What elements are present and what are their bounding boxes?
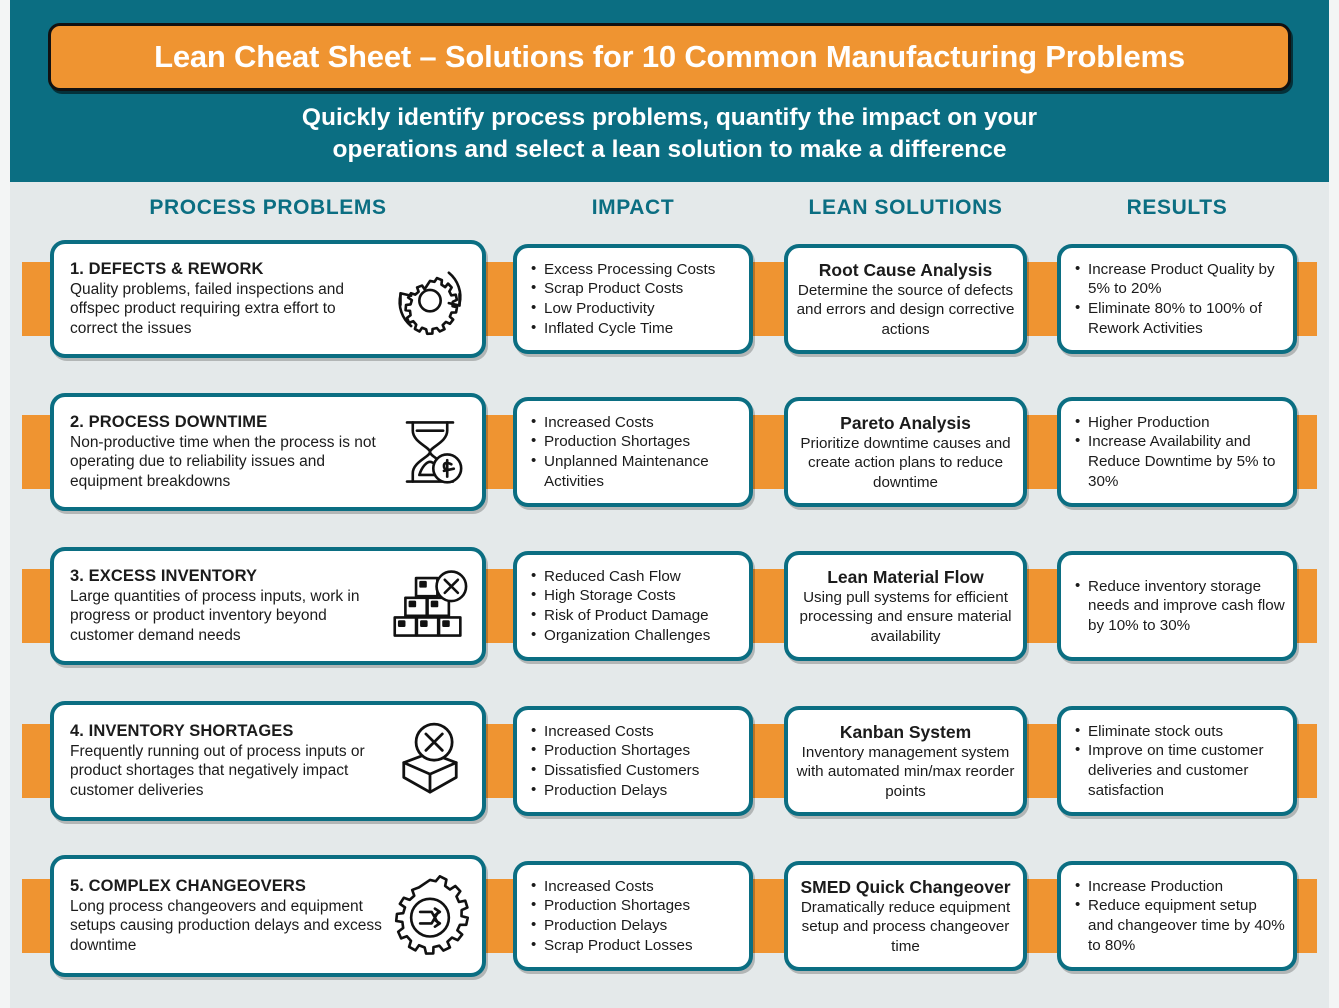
- list-item: Increase Production: [1074, 877, 1285, 897]
- problem-card[interactable]: 5. COMPLEX CHANGEOVERSLong process chang…: [50, 855, 486, 977]
- list-item: Production Delays: [530, 781, 741, 801]
- hourglass-dollar-icon: [386, 408, 474, 496]
- solution-card[interactable]: Pareto AnalysisPrioritize downtime cause…: [784, 397, 1027, 507]
- problem-title: 2. PROCESS DOWNTIME: [70, 413, 386, 432]
- solution-card[interactable]: SMED Quick ChangeoverDramatically reduce…: [784, 861, 1027, 971]
- problem-description: Non-productive time when the process is …: [70, 433, 386, 492]
- title-plate: Lean Cheat Sheet – Solutions for 10 Comm…: [48, 23, 1291, 91]
- solution-title: Lean Material Flow: [795, 566, 1016, 588]
- results-card[interactable]: Reduce inventory storage needs and impro…: [1057, 551, 1297, 661]
- solution-title: Kanban System: [795, 721, 1016, 743]
- results-list: Increase ProductionReduce equipment setu…: [1061, 870, 1293, 962]
- problem-title: 3. EXCESS INVENTORY: [70, 567, 386, 586]
- list-item: Increased Costs: [530, 413, 741, 433]
- list-item: Increase Product Quality by 5% to 20%: [1074, 260, 1285, 299]
- column-headers: PROCESS PROBLEMS IMPACT LEAN SOLUTIONS R…: [10, 196, 1329, 232]
- list-item: Higher Production: [1074, 413, 1285, 433]
- results-list: Eliminate stock outsImprove on time cust…: [1061, 715, 1293, 807]
- list-item: Dissatisfied Customers: [530, 761, 741, 781]
- list-item: Reduce inventory storage needs and impro…: [1074, 577, 1285, 636]
- impact-list: Increased CostsProduction ShortagesProdu…: [517, 870, 749, 962]
- problem-row: 4. INVENTORY SHORTAGESFrequently running…: [10, 701, 1329, 821]
- infographic-page: Lean Cheat Sheet – Solutions for 10 Comm…: [0, 0, 1339, 1008]
- problem-title: 4. INVENTORY SHORTAGES: [70, 722, 386, 741]
- solution-title: SMED Quick Changeover: [795, 876, 1016, 898]
- problem-description: Large quantities of process inputs, work…: [70, 587, 386, 646]
- impact-card[interactable]: Reduced Cash FlowHigh Storage CostsRisk …: [513, 551, 753, 661]
- list-item: High Storage Costs: [530, 586, 741, 606]
- solution-description: Inventory management system with automat…: [795, 743, 1016, 802]
- open-box-x-icon: [386, 717, 474, 805]
- list-item: Production Shortages: [530, 741, 741, 761]
- page-title: Lean Cheat Sheet – Solutions for 10 Comm…: [154, 39, 1185, 75]
- list-item: Low Productivity: [530, 299, 741, 319]
- list-item: Production Shortages: [530, 432, 741, 452]
- impact-list: Increased CostsProduction ShortagesDissa…: [517, 715, 749, 807]
- results-card[interactable]: Eliminate stock outsImprove on time cust…: [1057, 706, 1297, 816]
- list-item: Excess Processing Costs: [530, 260, 741, 280]
- results-card[interactable]: Higher ProductionIncrease Availability a…: [1057, 397, 1297, 507]
- list-item: Reduced Cash Flow: [530, 567, 741, 587]
- page-subtitle: Quickly identify process problems, quant…: [10, 102, 1329, 166]
- list-item: Organization Challenges: [530, 626, 741, 646]
- problem-description: Frequently running out of process inputs…: [70, 742, 386, 801]
- list-item: Increase Availability and Reduce Downtim…: [1074, 432, 1285, 491]
- list-item: Scrap Product Losses: [530, 936, 741, 956]
- problem-title: 1. DEFECTS & REWORK: [70, 260, 386, 279]
- column-header-results: RESULTS: [1057, 196, 1297, 220]
- column-header-impact: IMPACT: [513, 196, 753, 220]
- problem-row: 2. PROCESS DOWNTIMENon-productive time w…: [10, 393, 1329, 511]
- problem-card[interactable]: 4. INVENTORY SHORTAGESFrequently running…: [50, 701, 486, 821]
- problem-description: Long process changeovers and equipment s…: [70, 897, 386, 956]
- impact-card[interactable]: Increased CostsProduction ShortagesUnpla…: [513, 397, 753, 507]
- list-item: Production Delays: [530, 916, 741, 936]
- problem-row: 1. DEFECTS & REWORKQuality problems, fai…: [10, 240, 1329, 358]
- list-item: Eliminate 80% to 100% of Rework Activiti…: [1074, 299, 1285, 338]
- list-item: Reduce equipment setup and changeover ti…: [1074, 896, 1285, 955]
- solution-card[interactable]: Kanban SystemInventory management system…: [784, 706, 1027, 816]
- solution-description: Determine the source of defects and erro…: [795, 281, 1016, 340]
- problem-description: Quality problems, failed inspections and…: [70, 280, 386, 339]
- problem-row: 5. COMPLEX CHANGEOVERSLong process chang…: [10, 855, 1329, 977]
- list-item: Scrap Product Costs: [530, 279, 741, 299]
- solution-card[interactable]: Root Cause AnalysisDetermine the source …: [784, 244, 1027, 354]
- solution-title: Pareto Analysis: [795, 412, 1016, 434]
- subtitle-line-2: operations and select a lean solution to…: [140, 134, 1199, 166]
- problem-title: 5. COMPLEX CHANGEOVERS: [70, 877, 386, 896]
- list-item: Risk of Product Damage: [530, 606, 741, 626]
- solution-description: Prioritize downtime causes and create ac…: [795, 434, 1016, 493]
- results-card[interactable]: Increase Product Quality by 5% to 20%Eli…: [1057, 244, 1297, 354]
- problem-card[interactable]: 2. PROCESS DOWNTIMENon-productive time w…: [50, 393, 486, 511]
- impact-card[interactable]: Increased CostsProduction ShortagesDissa…: [513, 706, 753, 816]
- list-item: Unplanned Maintenance Activities: [530, 452, 741, 491]
- header-banner: Lean Cheat Sheet – Solutions for 10 Comm…: [10, 0, 1329, 182]
- solution-card[interactable]: Lean Material FlowUsing pull systems for…: [784, 551, 1027, 661]
- impact-card[interactable]: Increased CostsProduction ShortagesProdu…: [513, 861, 753, 971]
- impact-list: Excess Processing CostsScrap Product Cos…: [517, 253, 749, 345]
- impact-list: Reduced Cash FlowHigh Storage CostsRisk …: [517, 560, 749, 652]
- list-item: Increased Costs: [530, 877, 741, 897]
- solution-description: Dramatically reduce equipment setup and …: [795, 898, 1016, 957]
- list-item: Inflated Cycle Time: [530, 319, 741, 339]
- list-item: Improve on time customer deliveries and …: [1074, 741, 1285, 800]
- list-item: Increased Costs: [530, 722, 741, 742]
- solution-description: Using pull systems for efficient process…: [795, 588, 1016, 647]
- impact-list: Increased CostsProduction ShortagesUnpla…: [517, 406, 749, 498]
- subtitle-line-1: Quickly identify process problems, quant…: [140, 102, 1199, 134]
- stacked-boxes-x-icon: [386, 562, 474, 650]
- problem-card[interactable]: 1. DEFECTS & REWORKQuality problems, fai…: [50, 240, 486, 358]
- results-list: Higher ProductionIncrease Availability a…: [1061, 406, 1293, 498]
- gear-shuffle-icon: [386, 872, 474, 960]
- column-header-lean-solutions: LEAN SOLUTIONS: [784, 196, 1027, 220]
- gear-cycle-icon: [386, 255, 474, 343]
- list-item: Eliminate stock outs: [1074, 722, 1285, 742]
- results-list: Increase Product Quality by 5% to 20%Eli…: [1061, 253, 1293, 345]
- impact-card[interactable]: Excess Processing CostsScrap Product Cos…: [513, 244, 753, 354]
- problem-card[interactable]: 3. EXCESS INVENTORYLarge quantities of p…: [50, 547, 486, 665]
- solution-title: Root Cause Analysis: [795, 259, 1016, 281]
- list-item: Production Shortages: [530, 896, 741, 916]
- results-list: Reduce inventory storage needs and impro…: [1061, 570, 1293, 643]
- problem-row: 3. EXCESS INVENTORYLarge quantities of p…: [10, 547, 1329, 665]
- column-header-process-problems: PROCESS PROBLEMS: [50, 196, 486, 220]
- results-card[interactable]: Increase ProductionReduce equipment setu…: [1057, 861, 1297, 971]
